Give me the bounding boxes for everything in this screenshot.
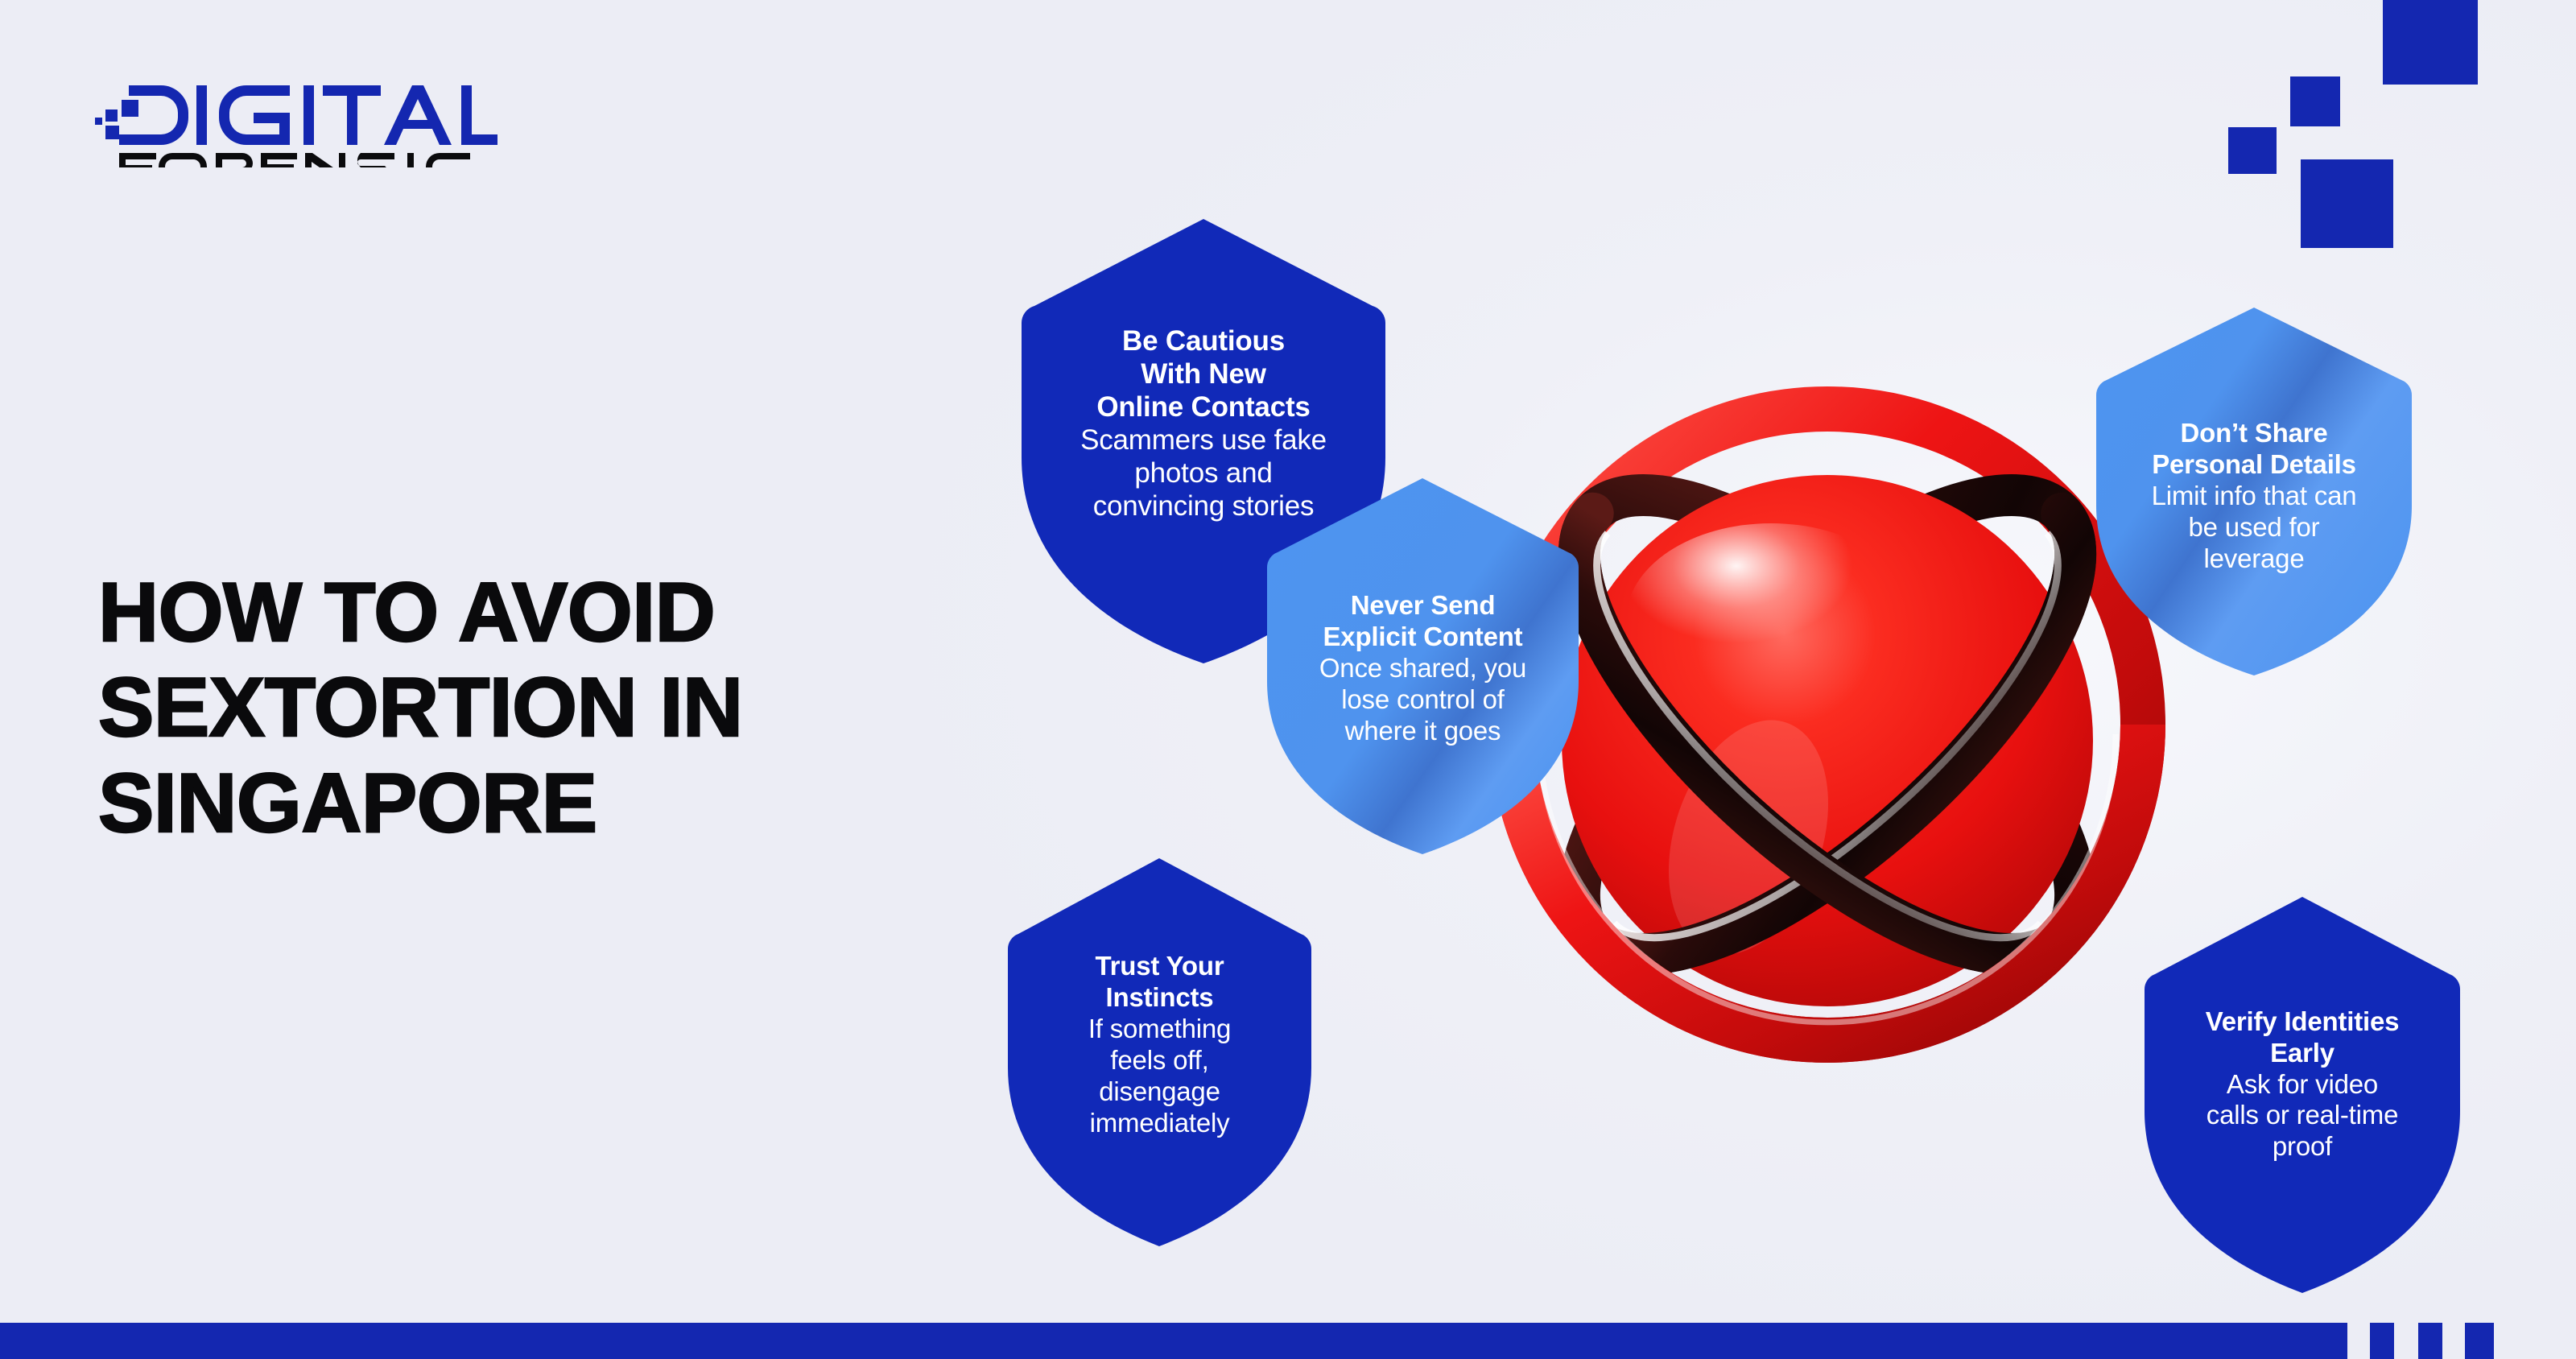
tip-shield-title: Don’t SharePersonal Details — [2116, 418, 2392, 481]
footer-bar-dash — [2418, 1323, 2442, 1359]
tip-shield-desc: If somethingfeels off,disengageimmediate… — [1026, 1014, 1293, 1139]
tip-shield-never-send-explicit-content[interactable]: Never SendExplicit Content Once shared, … — [1264, 475, 1582, 857]
tip-shield-desc: Once shared, youlose control ofwhere it … — [1286, 653, 1560, 747]
logo-pixel-accent-icon — [95, 100, 138, 139]
tip-shield-verify-identities-early[interactable]: Verify IdentitiesEarly Ask for videocall… — [2141, 894, 2463, 1296]
page-title-line-2: SEXTORTION IN — [98, 660, 1048, 756]
logo-wordmark-digital — [119, 85, 497, 145]
footer-bar-dash — [2370, 1323, 2394, 1359]
tip-shield-title: Never SendExplicit Content — [1286, 590, 1560, 653]
decorative-square-icon — [2383, 0, 2478, 85]
tip-shield-title: Verify IdentitiesEarly — [2164, 1006, 2441, 1069]
brand-logo — [95, 84, 497, 167]
tip-shield-text: Don’t SharePersonal Details Limit info t… — [2116, 418, 2392, 575]
decorative-square-icon — [2228, 127, 2277, 174]
page-title: HOW TO AVOID SEXTORTION IN SINGAPORE — [98, 565, 1048, 852]
logo-wordmark-forensics — [119, 153, 470, 167]
infographic-canvas: HOW TO AVOID SEXTORTION IN SINGAPORE — [0, 0, 2576, 1359]
decorative-square-icon — [2290, 76, 2340, 126]
tip-shield-desc: Limit info that canbe used forleverage — [2116, 481, 2392, 575]
footer-bar — [0, 1323, 2347, 1359]
page-title-line-3: SINGAPORE — [98, 756, 1048, 852]
tip-shield-desc: Ask for videocalls or real-timeproof — [2164, 1069, 2441, 1163]
footer-bar-dash — [2465, 1323, 2494, 1359]
page-title-line-1: HOW TO AVOID — [98, 565, 1048, 661]
tip-shield-dont-share-personal-details[interactable]: Don’t SharePersonal Details Limit info t… — [2093, 304, 2415, 679]
tip-shield-trust-your-instincts[interactable]: Trust YourInstincts If somethingfeels of… — [1005, 855, 1315, 1250]
decorative-square-icon — [2301, 159, 2393, 248]
tip-shield-text: Trust YourInstincts If somethingfeels of… — [1026, 951, 1293, 1139]
tip-shield-title: Be CautiousWith NewOnline Contacts — [1044, 325, 1363, 424]
tip-shield-text: Verify IdentitiesEarly Ask for videocall… — [2164, 1006, 2441, 1163]
tip-shield-title: Trust YourInstincts — [1026, 951, 1293, 1014]
tip-shield-text: Never SendExplicit Content Once shared, … — [1286, 590, 1560, 747]
